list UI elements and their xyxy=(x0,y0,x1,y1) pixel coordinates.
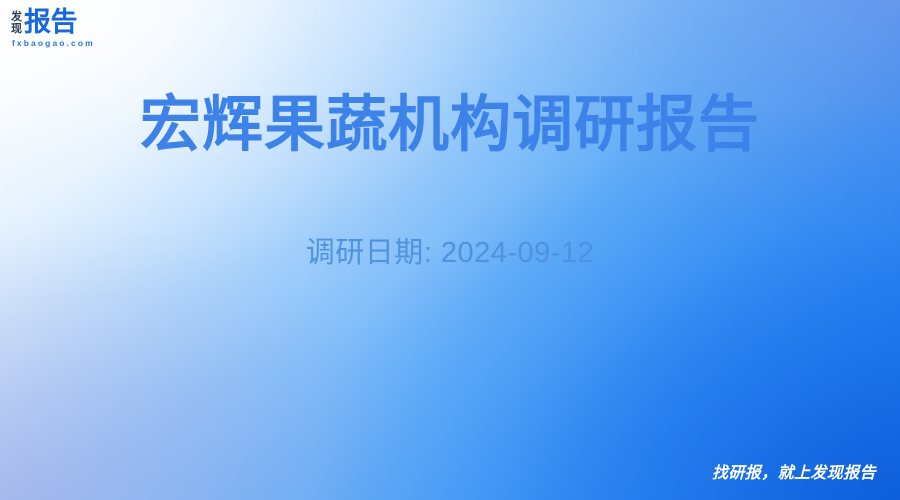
footer-slogan: 找研报，就上发现报告 xyxy=(712,463,876,485)
site-logo[interactable]: 发 现 报告 fxbaogao.com xyxy=(11,9,161,55)
logo-url: fxbaogao.com xyxy=(12,38,161,48)
logo-wordmark: 报告 xyxy=(24,9,77,36)
low-poly-background xyxy=(0,0,900,500)
logo-char-bottom: 现 xyxy=(11,24,22,36)
logo-char-top: 发 xyxy=(11,12,22,24)
report-cover-slide: 发 现 报告 fxbaogao.com 宏辉果蔬机构调研报告 调研日期: 202… xyxy=(0,0,900,500)
logo-stacked-characters: 发 现 xyxy=(11,12,22,36)
logo-wordmark-row: 发 现 报告 xyxy=(11,9,161,36)
